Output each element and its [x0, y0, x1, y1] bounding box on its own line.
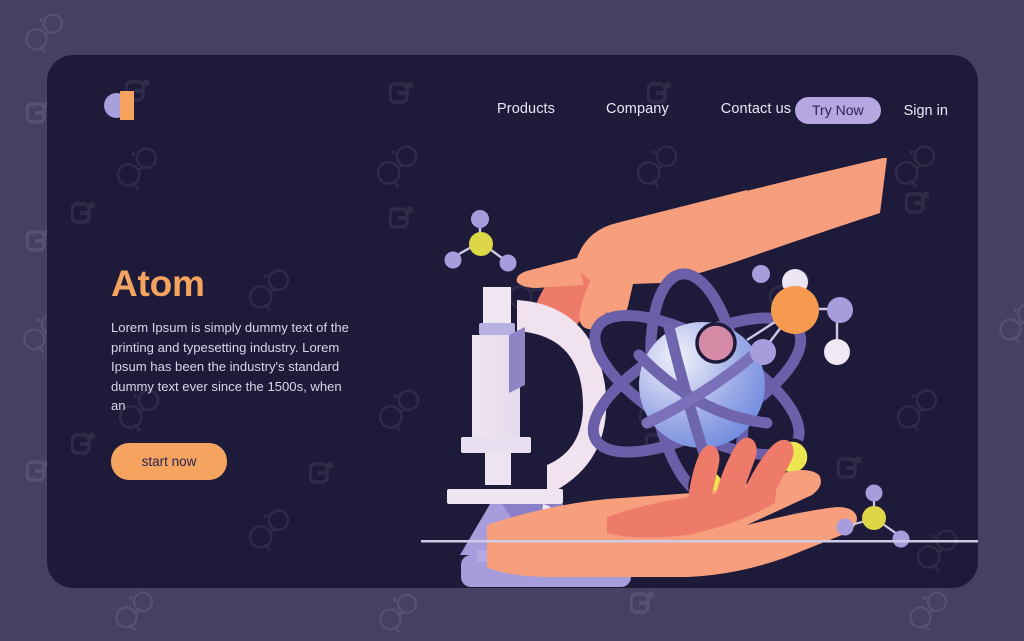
try-now-button[interactable]: Try Now	[795, 97, 881, 124]
nav-link-products[interactable]: Products	[497, 97, 555, 121]
sign-in-link[interactable]: Sign in	[904, 103, 948, 119]
page-title: Atom	[111, 265, 381, 302]
watermark-arabic	[629, 385, 693, 433]
start-now-button[interactable]: start now	[111, 443, 227, 480]
watermark-arabic	[990, 300, 1024, 344]
watermark-arabic	[106, 588, 166, 632]
hero-card: Products Company Contact us Try Now Sign…	[47, 55, 978, 588]
watermark-g-logo	[71, 200, 97, 226]
microscope	[447, 287, 631, 587]
watermark-arabic	[370, 590, 430, 634]
watermark-arabic	[759, 265, 823, 313]
atom-model	[574, 268, 819, 503]
watermark-g-logo	[630, 590, 656, 616]
watermark-arabic	[907, 525, 971, 573]
molecule-right	[747, 265, 853, 365]
open-palm-hand-bottom	[487, 438, 857, 577]
watermark-arabic	[499, 507, 563, 555]
nav-actions: Try Now Sign in	[795, 97, 948, 124]
watermark-arabic	[900, 588, 960, 632]
watermark-arabic	[499, 265, 563, 313]
nav-link-company[interactable]: Company	[606, 97, 669, 121]
watermark-g-logo	[389, 205, 415, 231]
nav-links: Products Company Contact us	[497, 97, 791, 121]
watermark-arabic	[759, 507, 823, 555]
top-navigation: Products Company Contact us Try Now Sign…	[47, 55, 978, 165]
watermark-g-logo	[71, 431, 97, 457]
brand-logo[interactable]	[104, 91, 146, 121]
pointing-hand-top	[517, 158, 887, 330]
watermark-arabic	[16, 10, 76, 54]
logo-rect-icon	[120, 91, 134, 120]
watermark-g-logo	[837, 455, 863, 481]
nav-link-contact-us[interactable]: Contact us	[721, 97, 791, 121]
hero-description: Lorem Ipsum is simply dummy text of the …	[111, 318, 357, 416]
molecule-top-left	[445, 210, 517, 272]
watermark-arabic	[239, 505, 303, 553]
watermark-arabic	[887, 385, 951, 433]
watermark-g-logo	[905, 190, 931, 216]
hero-content: Atom Lorem Ipsum is simply dummy text of…	[111, 265, 381, 480]
molecule-bottom-right	[837, 485, 910, 548]
watermark-g-logo	[645, 431, 671, 457]
